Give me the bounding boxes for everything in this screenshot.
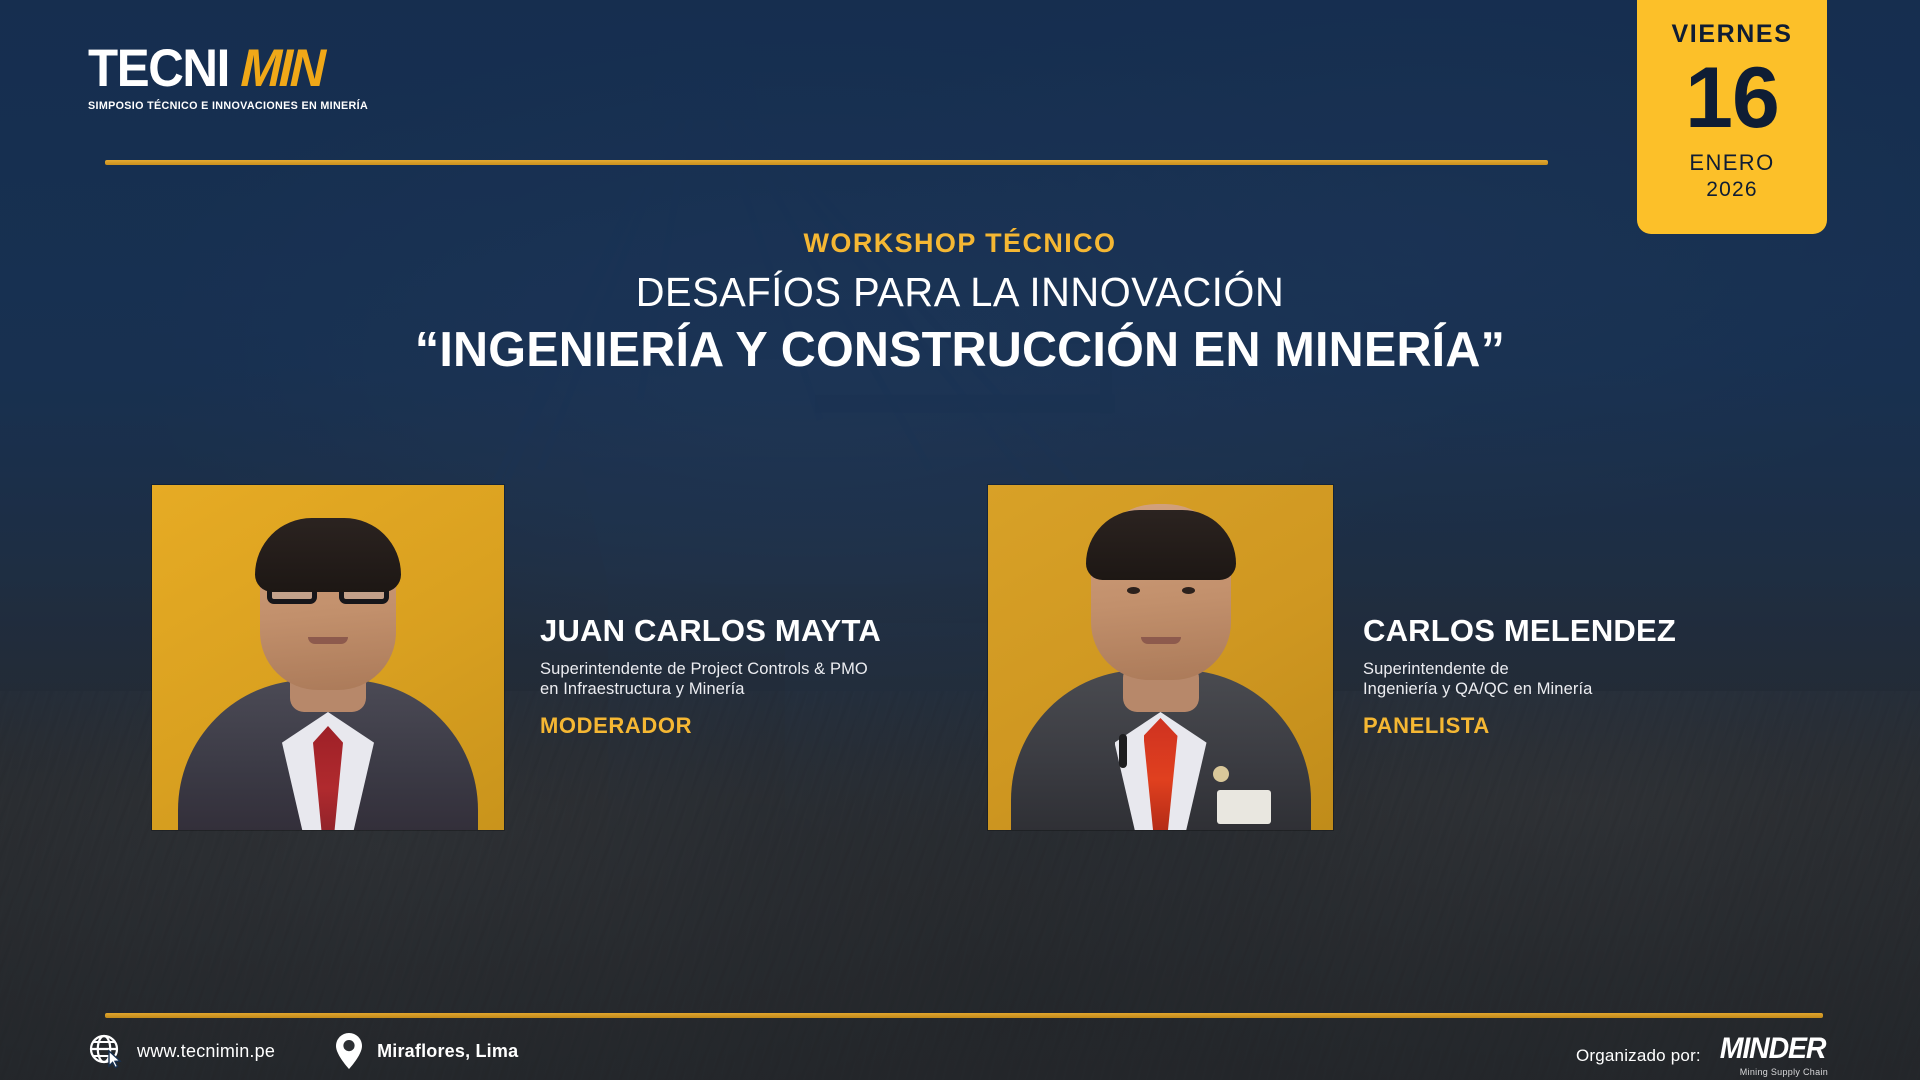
tecnimin-logo: TECNI MIN SIMPOSIO TÉCNICO E INNOVACIONE… [88, 42, 380, 112]
date-year: 2026 [1706, 178, 1758, 202]
divider-bottom [105, 1013, 1823, 1018]
portrait-lapel-mic-icon [1119, 734, 1127, 768]
minder-tagline: Mining Supply Chain [1740, 1067, 1828, 1077]
logo-wordmark: TECNI MIN [88, 42, 380, 95]
title-block: WORKSHOP TÉCNICO DESAFÍOS PARA LA INNOVA… [0, 228, 1920, 378]
speaker-role-line2: Ingeniería y QA/QC en Minería [1363, 680, 1592, 698]
location-pin-icon [334, 1032, 364, 1070]
portrait-eye-right [1182, 587, 1195, 594]
minder-logo[interactable]: MINDER Mining Supply Chain [1717, 1034, 1828, 1077]
date-day-number: 16 [1685, 57, 1779, 140]
portrait-hair [255, 518, 401, 592]
portrait-mouth [1141, 637, 1181, 644]
organizer-label: Organizado por: [1576, 1046, 1701, 1066]
speaker-role: Superintendente de Project Controls & PM… [540, 659, 881, 699]
speaker-tag: MODERADOR [540, 713, 881, 739]
event-kicker: WORKSHOP TÉCNICO [0, 228, 1920, 259]
speaker-photo-carlos-melendez [988, 485, 1333, 830]
portrait-mouth [308, 637, 348, 644]
date-month: ENERO [1689, 150, 1774, 176]
portrait-name-badge [1217, 790, 1271, 824]
speaker-role-line1: Superintendente de [1363, 660, 1509, 678]
speaker-name: CARLOS MELENDEZ [1363, 613, 1676, 649]
speaker-role-line2: en Infraestructura y Minería [540, 680, 745, 698]
minder-wordmark: MINDER [1720, 1034, 1826, 1064]
footer-website[interactable]: www.tecnimin.pe [88, 1033, 275, 1069]
speaker-card-panelista: CARLOS MELENDEZ Superintendente de Ingen… [988, 485, 1676, 830]
speaker-role: Superintendente de Ingeniería y QA/QC en… [1363, 659, 1676, 699]
portrait-hair [1086, 510, 1236, 580]
logo-text-min: MIN [240, 42, 324, 95]
speaker-name: JUAN CARLOS MAYTA [540, 613, 881, 649]
event-headline: “INGENIERÍA Y CONSTRUCCIÓN EN MINERÍA” [10, 322, 1911, 378]
speaker-info-moderator: JUAN CARLOS MAYTA Superintendente de Pro… [540, 485, 881, 739]
speaker-photo-juan-carlos-mayta [152, 485, 504, 830]
date-badge: VIERNES 16 ENERO 2026 [1637, 0, 1827, 234]
event-subtitle: DESAFÍOS PARA LA INNOVACIÓN [29, 269, 1891, 316]
logo-tagline: SIMPOSIO TÉCNICO E INNOVACIONES EN MINER… [88, 100, 368, 112]
logo-text-tecni: TECNI [88, 42, 229, 95]
divider-top [105, 160, 1548, 165]
footer-location-text: Miraflores, Lima [377, 1041, 518, 1062]
speaker-role-line1: Superintendente de Project Controls & PM… [540, 660, 868, 678]
footer-website-text: www.tecnimin.pe [137, 1041, 275, 1062]
portrait-lapel-pin [1213, 766, 1229, 782]
speaker-tag: PANELISTA [1363, 713, 1676, 739]
speaker-info-panelista: CARLOS MELENDEZ Superintendente de Ingen… [1363, 485, 1676, 739]
footer-organizer-group: Organizado por: MINDER Mining Supply Cha… [1576, 1034, 1828, 1077]
date-weekday: VIERNES [1672, 20, 1793, 49]
globe-cursor-icon [88, 1033, 124, 1069]
portrait-eye-left [1127, 587, 1140, 594]
speaker-card-moderator: JUAN CARLOS MAYTA Superintendente de Pro… [152, 485, 881, 830]
footer-location[interactable]: Miraflores, Lima [334, 1032, 518, 1070]
footer: www.tecnimin.pe Miraflores, Lima Organiz… [0, 1020, 1920, 1080]
footer-contact-group: www.tecnimin.pe Miraflores, Lima [88, 1032, 518, 1070]
